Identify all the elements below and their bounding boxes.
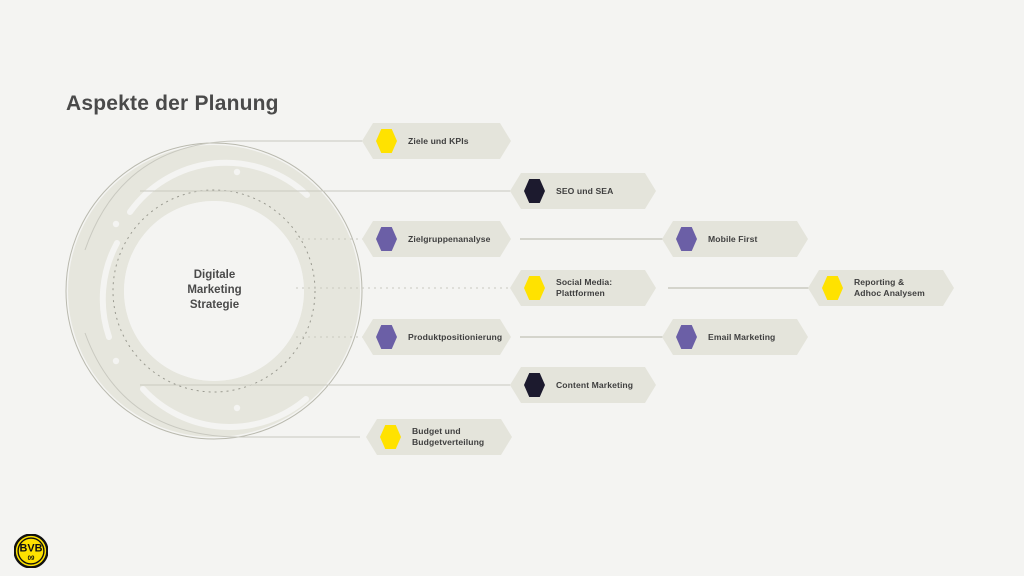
marker-hexagon-icon [676, 325, 697, 349]
node-label: Produktpositionierung [408, 332, 502, 343]
node-ziele-und-kpis[interactable]: Ziele und KPIs [362, 123, 511, 159]
marker-hexagon-icon [380, 425, 401, 449]
marker-hexagon-icon [376, 227, 397, 251]
node-label: Social Media: Plattformen [556, 277, 612, 299]
infographic-canvas: Aspekte der Planung [0, 0, 1024, 576]
node-reporting-adhoc[interactable]: Reporting & Adhoc Analysem [808, 270, 954, 306]
node-zielgruppenanalyse[interactable]: Zielgruppenanalyse [362, 221, 511, 257]
node-label: Ziele und KPIs [408, 136, 469, 147]
marker-hexagon-icon [376, 325, 397, 349]
node-social-media-plattformen[interactable]: Social Media: Plattformen [510, 270, 656, 306]
marker-hexagon-icon [822, 276, 843, 300]
hub-center-label: Digitale Marketing Strategie [157, 268, 272, 313]
marker-hexagon-icon [524, 179, 545, 203]
node-label: SEO und SEA [556, 186, 613, 197]
node-content-marketing[interactable]: Content Marketing [510, 367, 656, 403]
node-label: Budget und Budgetverteilung [412, 426, 484, 448]
hub-line-1: Digitale [157, 268, 272, 283]
node-label: Content Marketing [556, 380, 633, 391]
node-email-marketing[interactable]: Email Marketing [662, 319, 808, 355]
node-label: Email Marketing [708, 332, 775, 343]
node-label: Zielgruppenanalyse [408, 234, 491, 245]
node-seo-und-sea[interactable]: SEO und SEA [510, 173, 656, 209]
marker-hexagon-icon [524, 373, 545, 397]
node-mobile-first[interactable]: Mobile First [662, 221, 808, 257]
crest-bottom-text: 09 [28, 555, 35, 562]
node-label: Mobile First [708, 234, 757, 245]
hub-line-3: Strategie [157, 298, 272, 313]
node-budget-verteilung[interactable]: Budget und Budgetverteilung [366, 419, 512, 455]
node-label: Reporting & Adhoc Analysem [854, 277, 925, 299]
marker-hexagon-icon [524, 276, 545, 300]
crest-top-text: BVB [20, 543, 43, 555]
node-produktpositionierung[interactable]: Produktpositionierung [362, 319, 511, 355]
hub-line-2: Marketing [157, 283, 272, 298]
marker-hexagon-icon [376, 129, 397, 153]
bvb-09-crest-logo: BVB 09 [14, 534, 48, 568]
marker-hexagon-icon [676, 227, 697, 251]
